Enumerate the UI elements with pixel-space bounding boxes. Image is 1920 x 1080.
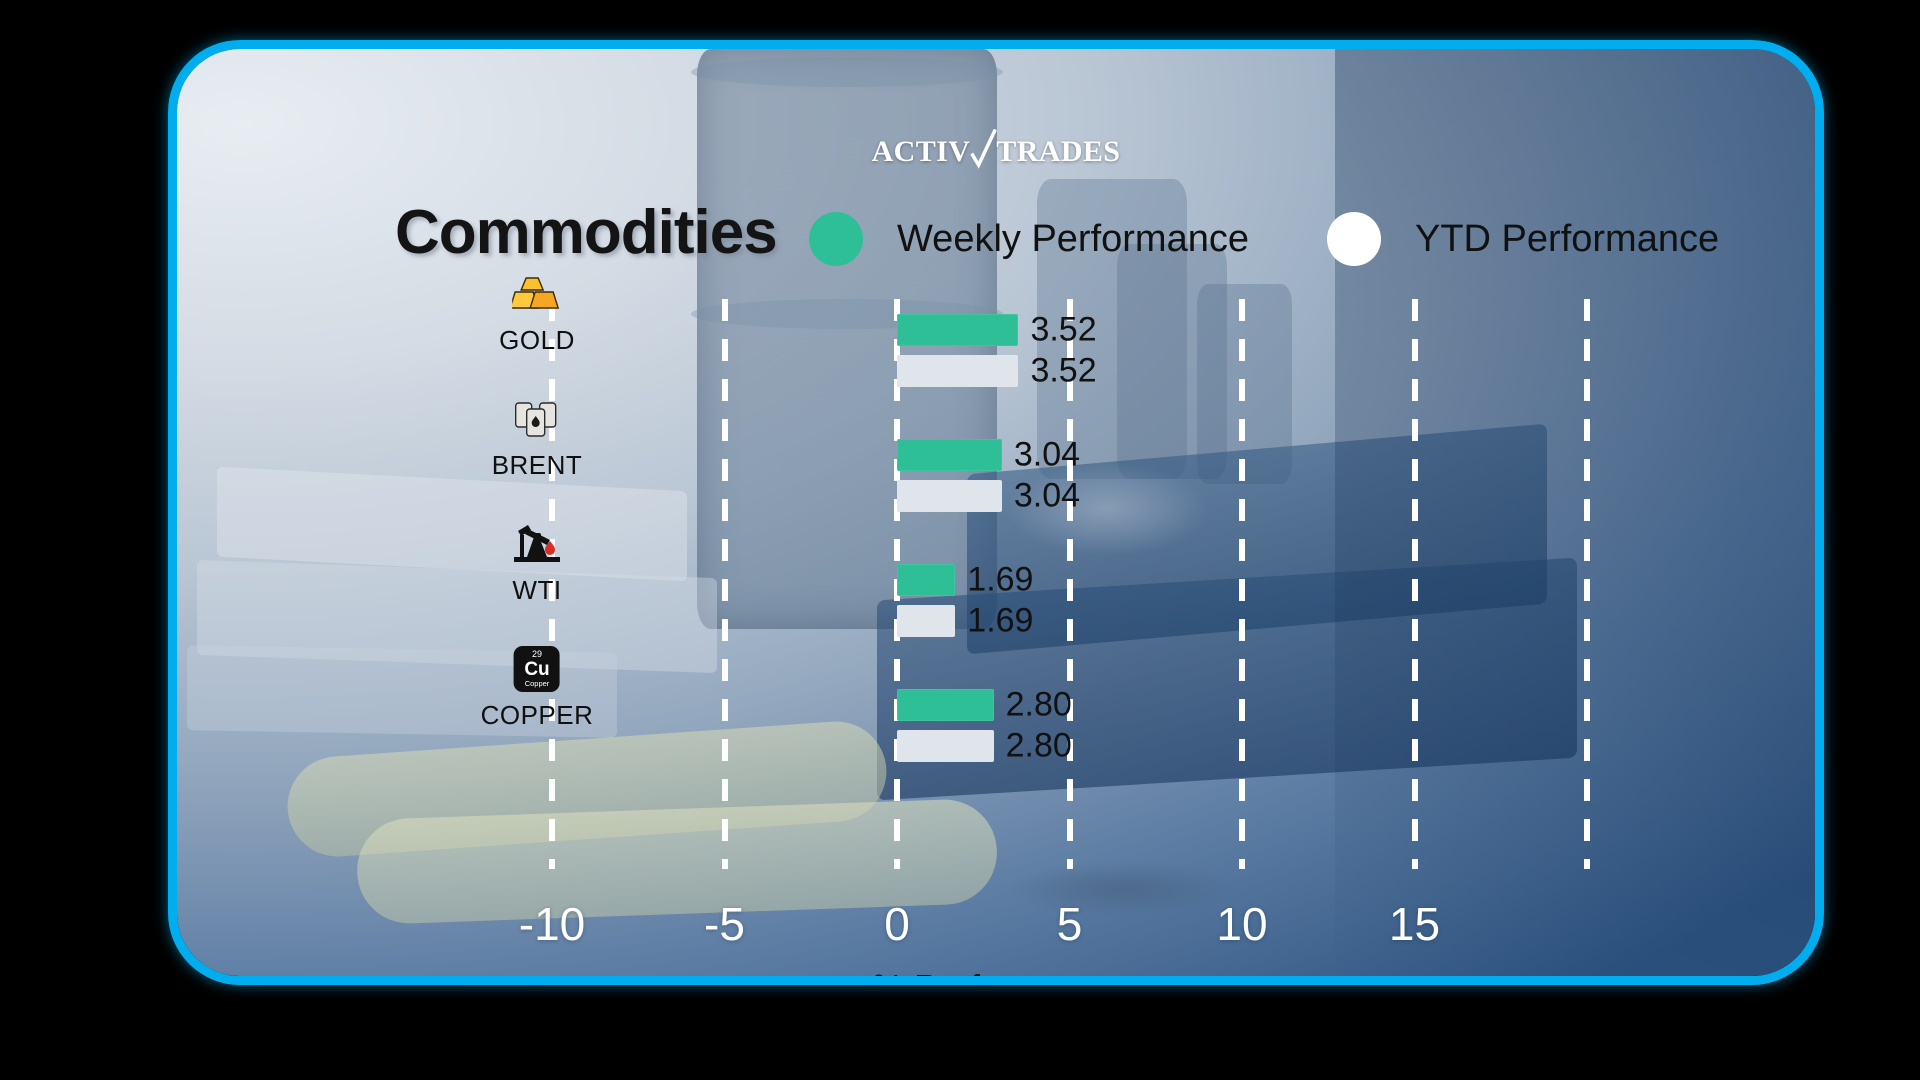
bar-copper-weekly: [897, 689, 994, 721]
x-tick-label-15: 15: [1389, 897, 1440, 951]
copper-element-icon: 29CuCopper: [481, 644, 594, 694]
bar-value-copper-ytd: 2.80: [1006, 727, 1072, 766]
gridline-15: [1412, 299, 1418, 869]
gridline--5: [722, 299, 728, 869]
screenshot-root: ACTIV TRADES Commodities Weekly Performa…: [0, 0, 1920, 1080]
commodity-label-brent: BRENT: [492, 450, 583, 481]
commodity-label-gold: GOLD: [499, 325, 575, 356]
copper-element-tile: 29CuCopper: [514, 646, 560, 692]
x-tick-label--5: -5: [704, 897, 745, 951]
performance-chart: -10-5051015 3.523.523.043.041.691.692.80…: [177, 49, 1815, 976]
bar-value-brent-ytd: 3.04: [1014, 477, 1080, 516]
bar-brent-ytd: [897, 480, 1002, 512]
bar-gold-weekly: [897, 314, 1018, 346]
x-axis-title: % Performance: [872, 967, 1120, 985]
copper-symbol: Cu: [524, 660, 549, 679]
commodities-card: ACTIV TRADES Commodities Weekly Performa…: [168, 40, 1824, 985]
bar-wti-ytd: [897, 605, 955, 637]
copper-atomic-number: 29: [532, 650, 542, 659]
gridline-10: [1239, 299, 1245, 869]
x-tick-label--10: -10: [519, 897, 585, 951]
bar-value-wti-weekly: 1.69: [967, 561, 1033, 600]
bar-copper-ytd: [897, 730, 994, 762]
commodity-label-copper: COPPER: [481, 700, 594, 731]
gridline-20: [1584, 299, 1590, 869]
bar-value-gold-ytd: 3.52: [1030, 352, 1096, 391]
x-tick-label-10: 10: [1216, 897, 1267, 951]
gold-bars-icon: [499, 269, 575, 319]
bar-value-brent-weekly: 3.04: [1014, 436, 1080, 475]
commodity-label-wti: WTI: [510, 575, 564, 606]
bar-wti-weekly: [897, 564, 955, 596]
copper-element-name: Copper: [525, 680, 550, 688]
commodity-group-gold: GOLD: [499, 269, 575, 356]
bar-brent-weekly: [897, 439, 1002, 471]
bar-value-copper-weekly: 2.80: [1006, 686, 1072, 725]
commodity-group-copper: 29CuCopperCOPPER: [481, 644, 594, 731]
commodity-group-brent: BRENT: [492, 394, 583, 481]
bar-gold-ytd: [897, 355, 1018, 387]
oil-barrels-icon: [492, 394, 583, 444]
commodity-group-wti: WTI: [510, 519, 564, 606]
bar-value-gold-weekly: 3.52: [1030, 311, 1096, 350]
oil-pumpjack-icon: [510, 519, 564, 569]
bar-value-wti-ytd: 1.69: [967, 602, 1033, 641]
x-tick-label-5: 5: [1057, 897, 1083, 951]
x-tick-label-0: 0: [884, 897, 910, 951]
